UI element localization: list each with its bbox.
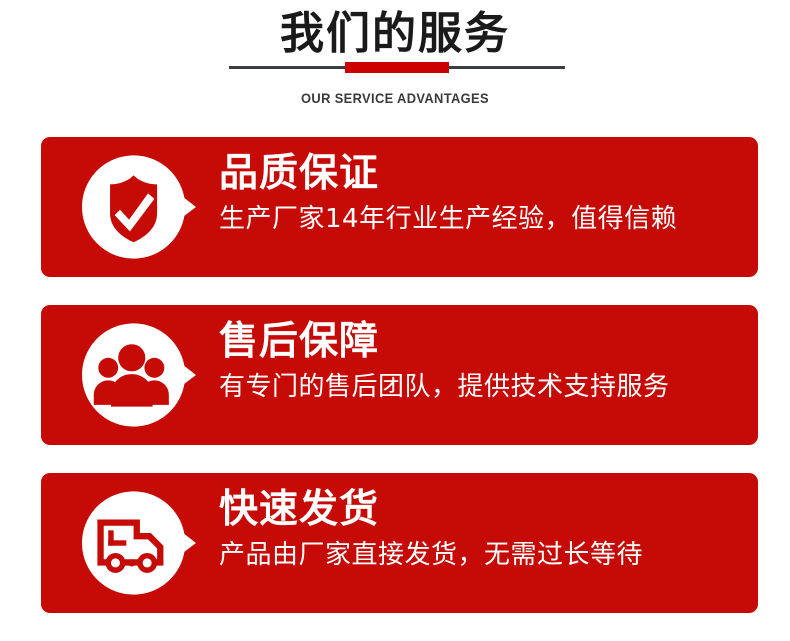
card-title: 快速发货 — [219, 485, 748, 535]
card-title: 售后保障 — [219, 317, 748, 367]
service-card[interactable]: 售后保障 有专门的售后团队，提供技术支持服务 — [41, 305, 758, 445]
card-subtitle: 产品由厂家直接发货，无需过长等待 — [219, 535, 748, 575]
card-icon-wrapper — [82, 486, 208, 600]
service-card[interactable]: 品质保证 生产厂家14年行业生产经验，值得信赖 — [41, 137, 758, 277]
people-group-icon — [82, 318, 196, 432]
shield-check-icon — [82, 150, 196, 264]
card-subtitle: 生产厂家14年行业生产经验，值得信赖 — [219, 199, 748, 239]
service-advantages-page: 我们的服务 OUR SERVICE ADVANTAGES 品质保证 生产厂家14… — [0, 0, 790, 641]
card-icon-wrapper — [82, 318, 208, 432]
card-subtitle: 有专门的售后团队，提供技术支持服务 — [219, 367, 748, 407]
card-icon-wrapper — [82, 150, 208, 264]
service-card[interactable]: 快速发货 产品由厂家直接发货，无需过长等待 — [41, 473, 758, 613]
delivery-truck-icon — [82, 486, 196, 600]
card-text-wrapper: 快速发货 产品由厂家直接发货，无需过长等待 — [219, 485, 748, 575]
card-text-wrapper: 品质保证 生产厂家14年行业生产经验，值得信赖 — [219, 149, 748, 239]
service-card-list: 品质保证 生产厂家14年行业生产经验，值得信赖 售后保障 — [0, 0, 790, 641]
card-text-wrapper: 售后保障 有专门的售后团队，提供技术支持服务 — [219, 317, 748, 407]
card-title: 品质保证 — [219, 149, 748, 199]
